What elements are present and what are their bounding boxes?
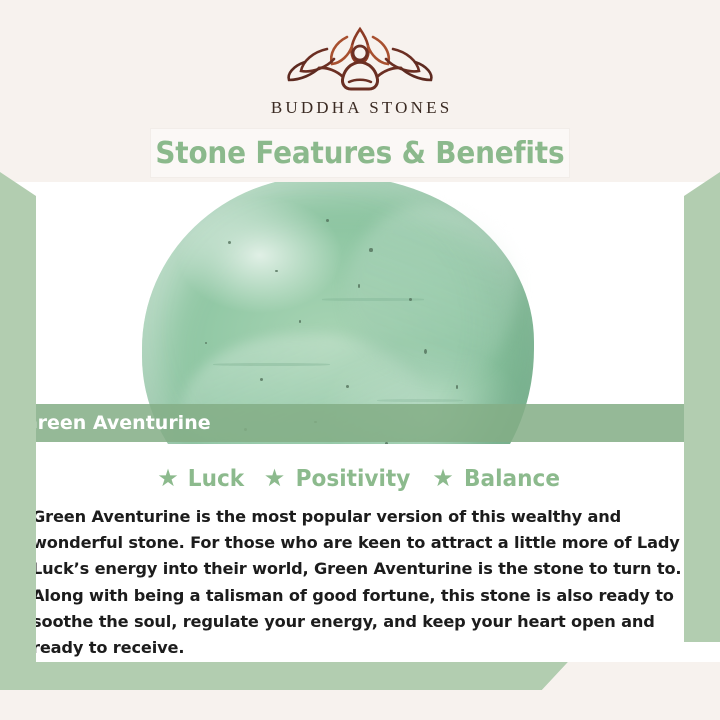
stone-speck [228,241,231,244]
stone-details: ★ Luck ★ Positivity ★ Balance Green Aven… [0,444,720,674]
stone-speck [275,270,278,273]
brand-logo: BUDDHA STONES [0,22,720,118]
keyword-label: Luck [188,466,244,492]
star-icon: ★ [432,467,454,491]
title-banner: Stone Features & Benefits [151,129,569,177]
lotus-meditation-icon [275,22,445,94]
stone-speck [369,248,373,252]
stone-speck [260,378,263,381]
frame-accent-right [684,172,720,642]
stone-description: Green Aventurine is the most popular ver… [32,504,690,661]
frame-cream-bottom-right [540,662,720,692]
star-icon: ★ [264,467,286,491]
stone-speck [358,284,361,288]
brand-wordmark: BUDDHA STONES [0,98,720,118]
keyword-balance: ★ Balance [426,466,569,492]
stone-speck [456,385,459,389]
stone-speck [326,219,329,222]
stone-speck [299,320,302,323]
keyword-label: Balance [464,466,560,492]
frame-cream-bottom [0,690,720,720]
stone-info-card: BUDDHA STONES Stone Features & Benefits [0,0,720,720]
page-title: Stone Features & Benefits [156,136,565,171]
keyword-positivity: ★ Positivity [258,466,421,492]
keyword-list: ★ Luck ★ Positivity ★ Balance [0,466,720,492]
stone-speck [205,342,208,345]
stone-name-label: Green Aventurine [22,412,211,434]
frame-accent-left [0,172,36,690]
keyword-label: Positivity [296,466,411,492]
stone-name-bar: Green Aventurine [0,404,720,442]
stone-speck [346,385,349,388]
keyword-luck: ★ Luck [151,466,251,492]
frame-accent-bottom [0,662,568,690]
stone-streak [377,399,463,402]
star-icon: ★ [157,467,179,491]
